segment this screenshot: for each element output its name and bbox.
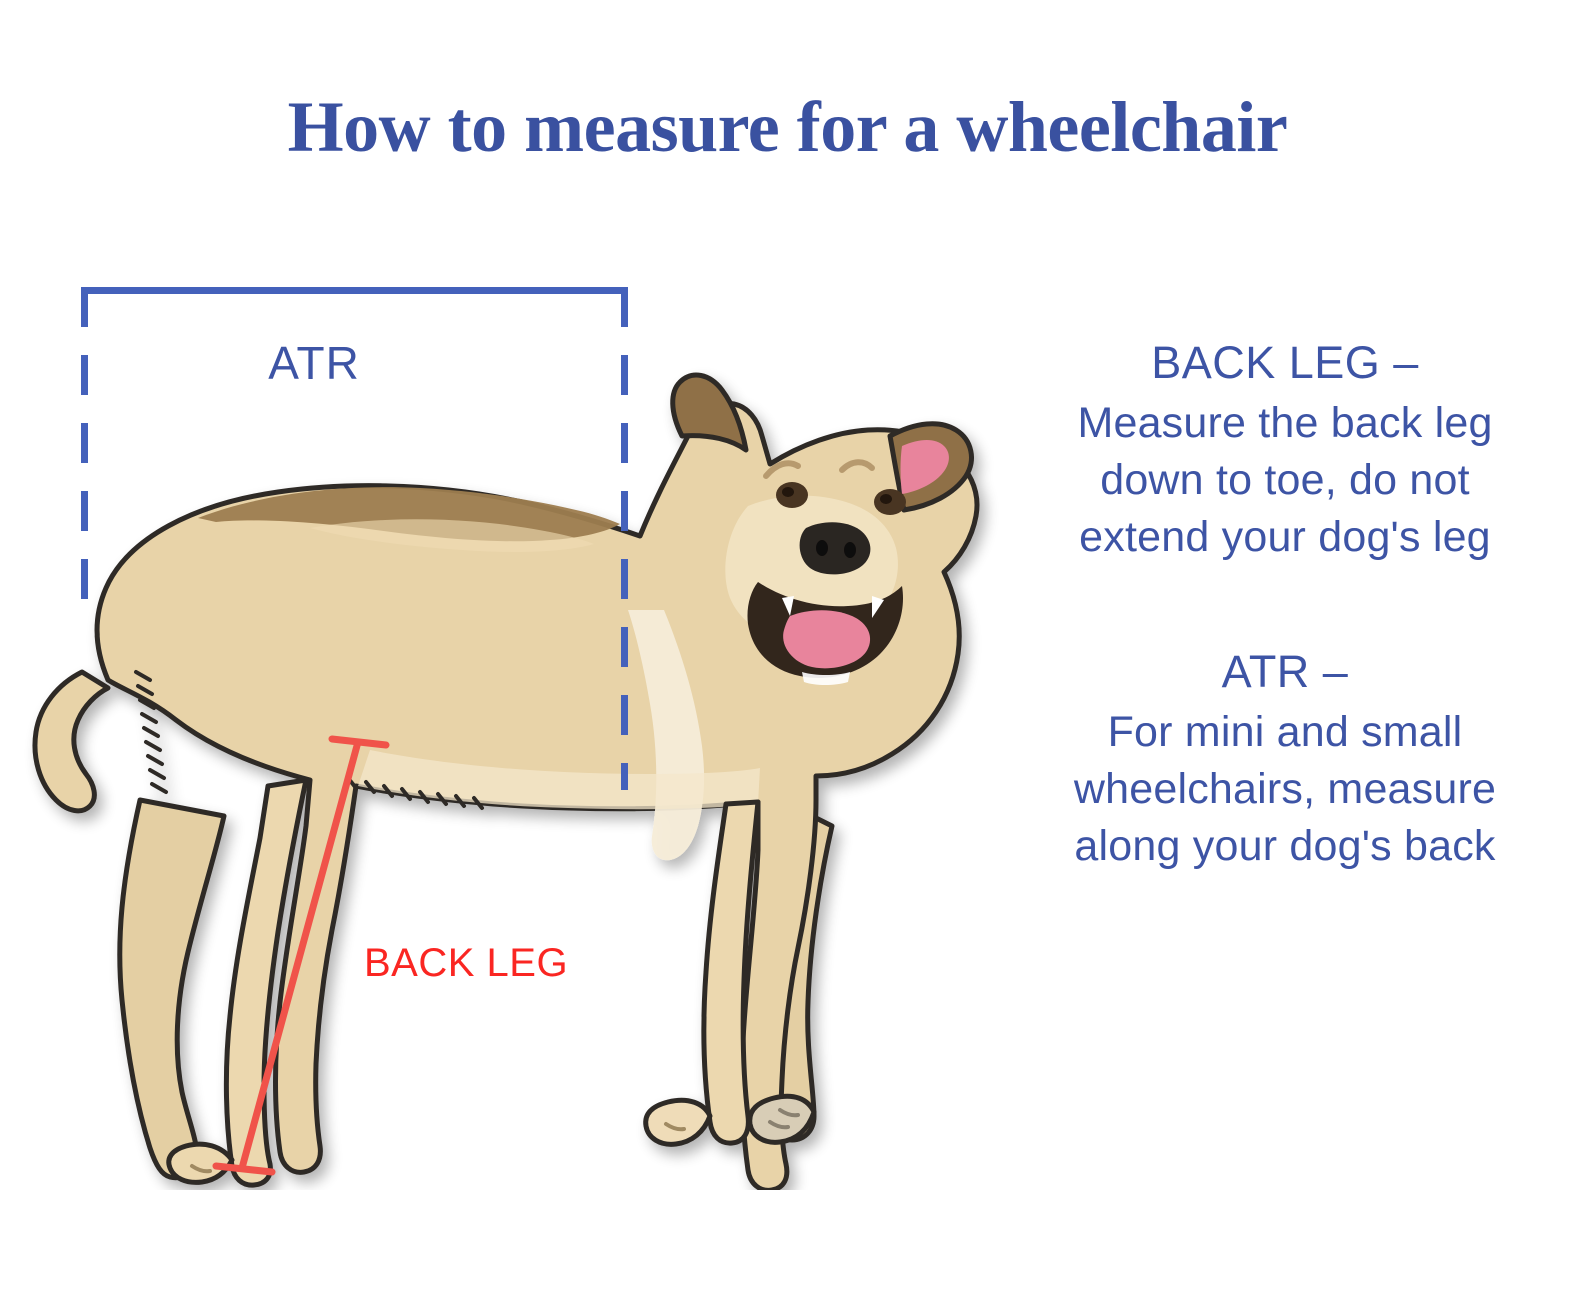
back-leg-heading: BACK LEG –	[1030, 336, 1540, 389]
atr-box-label: ATR	[0, 336, 628, 390]
atr-description: For mini and small wheelchairs, measure …	[1030, 704, 1540, 876]
atr-box-left-dashed-line	[81, 287, 88, 603]
infographic-page: How to measure for a wheelchair	[0, 0, 1575, 1312]
atr-heading: ATR –	[1030, 645, 1540, 698]
back-leg-description: Measure the back leg down to toe, do not…	[1030, 395, 1540, 567]
back-leg-label: BACK LEG	[355, 938, 577, 989]
instruction-block-back-leg: BACK LEG – Measure the back leg down to …	[1030, 336, 1540, 567]
atr-box-top-line	[81, 287, 628, 294]
instruction-block-atr: ATR – For mini and small wheelchairs, me…	[1030, 645, 1540, 876]
instructions-column: BACK LEG – Measure the back leg down to …	[1030, 336, 1540, 875]
page-title: How to measure for a wheelchair	[0, 86, 1575, 169]
